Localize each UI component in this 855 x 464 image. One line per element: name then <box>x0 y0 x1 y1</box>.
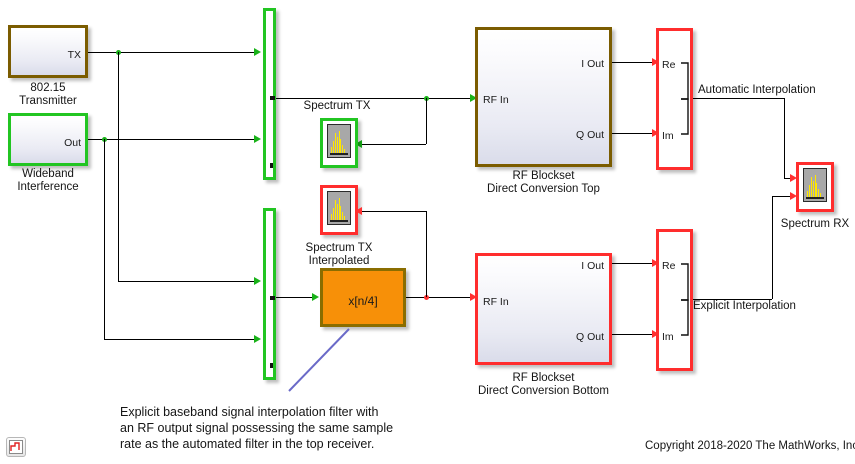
arrow-bus-top-in1 <box>254 48 261 56</box>
caption-rf-blockset-bottom: RF Blockset Direct Conversion Bottom <box>466 372 621 397</box>
port-label-q-out: Q Out <box>576 130 604 141</box>
bus-creator-top[interactable] <box>263 8 276 180</box>
arrow-spectrum-rx-in2 <box>790 192 797 200</box>
block-rf-blockset-bottom[interactable]: RF In I Out Q Out <box>475 253 612 365</box>
spectrum-scope-icon <box>327 124 351 158</box>
spectrum-scope-icon <box>803 168 827 202</box>
caption-spectrum-tx: Spectrum TX <box>297 100 377 113</box>
wire-filter-to-rf-bottom <box>406 297 472 298</box>
wire-spectrum-tx-interp-rise <box>426 211 427 297</box>
caption-spectrum-tx-interpolated: Spectrum TX Interpolated <box>291 242 387 267</box>
bus-tick <box>270 96 275 100</box>
bus-creator-bottom[interactable] <box>263 208 276 380</box>
wire-complex-bottom-rise <box>772 196 773 299</box>
annotation-copyright: Copyright 2018-2020 The MathWorks, Inc. <box>645 440 855 453</box>
block-spectrum-rx[interactable] <box>796 162 834 212</box>
annotation-leader-line <box>285 325 355 395</box>
block-spectrum-tx[interactable] <box>320 118 358 168</box>
wire-interference-to-bus-top <box>88 139 254 140</box>
caption-spectrum-rx: Spectrum RX <box>773 218 855 231</box>
scope-axis <box>806 197 824 199</box>
bus-tick <box>270 296 275 300</box>
wire-bus-bottom-to-filter <box>276 297 314 298</box>
annotation-line-2: an RF output signal possessing the same … <box>120 420 393 436</box>
wire-bus-top-to-rf-top <box>276 98 472 99</box>
simulink-canvas: TX 802.15 Transmitter Out Wideband Inter… <box>0 0 855 464</box>
filter-label: x[n/4] <box>323 295 403 307</box>
wire-complex-bottom-out <box>693 299 772 300</box>
scope-axis <box>330 220 348 222</box>
arrow-bus-top-in2 <box>254 135 261 143</box>
wire-rf-bottom-i-to-complex <box>612 263 654 264</box>
annotation-line-3: rate as the automated filter in the top … <box>120 436 393 452</box>
spectrum-scope-icon <box>327 191 351 225</box>
wire-interference-branch-to-bus-bottom <box>104 339 254 340</box>
block-wideband-interference[interactable]: Out <box>8 113 88 166</box>
port-label-q-out: Q Out <box>576 332 604 343</box>
arrow-bus-bottom-in2 <box>254 335 261 343</box>
port-label-out: Out <box>64 138 81 149</box>
wire-spectrum-tx-interp-feed <box>362 211 426 212</box>
arrow-bus-bottom-in1 <box>254 277 261 285</box>
wire-tx-branch-vertical <box>118 52 119 281</box>
port-label-i-out: I Out <box>581 261 604 272</box>
annotation-explanation: Explicit baseband signal interpolation f… <box>120 404 393 452</box>
caption-rf-blockset-top: RF Blockset Direct Conversion Top <box>466 170 621 195</box>
port-label-tx: TX <box>68 50 81 61</box>
block-complex-former-top[interactable]: Re Im <box>656 28 693 170</box>
wire-rf-top-q-to-complex <box>612 133 654 134</box>
block-interpolation-filter[interactable]: x[n/4] <box>320 268 406 327</box>
wire-tx-to-bus-top <box>88 52 254 53</box>
spectrum-bars <box>331 131 345 153</box>
spectrum-bars <box>807 175 821 197</box>
caption-wideband-interference: Wideband Interference <box>0 168 96 193</box>
label-explicit-interpolation: Explicit Interpolation <box>693 300 796 313</box>
wire-spectrum-tx-feed <box>362 144 426 145</box>
bus-tick <box>270 163 273 168</box>
block-complex-former-bottom[interactable]: Re Im <box>656 229 693 371</box>
complex-former-glyph <box>659 31 696 173</box>
wire-complex-top-drop <box>784 98 785 178</box>
wire-to-spectrum-rx-2 <box>772 196 792 197</box>
wire-tx-branch-to-bus-bottom <box>118 281 254 282</box>
arrow-filter-in <box>312 293 319 301</box>
wire-complex-top-out <box>693 98 784 99</box>
complex-former-glyph <box>659 232 696 374</box>
arrow-spectrum-tx-interp-in <box>355 207 362 215</box>
port-label-rf-in: RF In <box>483 297 509 308</box>
scope-axis <box>330 153 348 155</box>
wire-spectrum-tx-drop <box>426 98 427 144</box>
port-label-i-out: I Out <box>581 59 604 70</box>
wire-interference-branch-vertical <box>104 139 105 339</box>
block-spectrum-tx-interpolated[interactable] <box>320 185 358 235</box>
bus-tick <box>270 363 273 368</box>
caption-802-15-transmitter: 802.15 Transmitter <box>0 82 96 107</box>
sample-time-legend-icon[interactable] <box>6 437 26 457</box>
spectrum-bars <box>331 198 345 220</box>
label-automatic-interpolation: Automatic Interpolation <box>698 84 816 97</box>
wire-rf-top-i-to-complex <box>612 62 654 63</box>
annotation-line-1: Explicit baseband signal interpolation f… <box>120 404 393 420</box>
block-802-15-transmitter[interactable]: TX <box>8 25 88 78</box>
port-label-rf-in: RF In <box>483 95 509 106</box>
block-rf-blockset-top[interactable]: RF In I Out Q Out <box>475 27 612 167</box>
wire-rf-bottom-q-to-complex <box>612 334 654 335</box>
